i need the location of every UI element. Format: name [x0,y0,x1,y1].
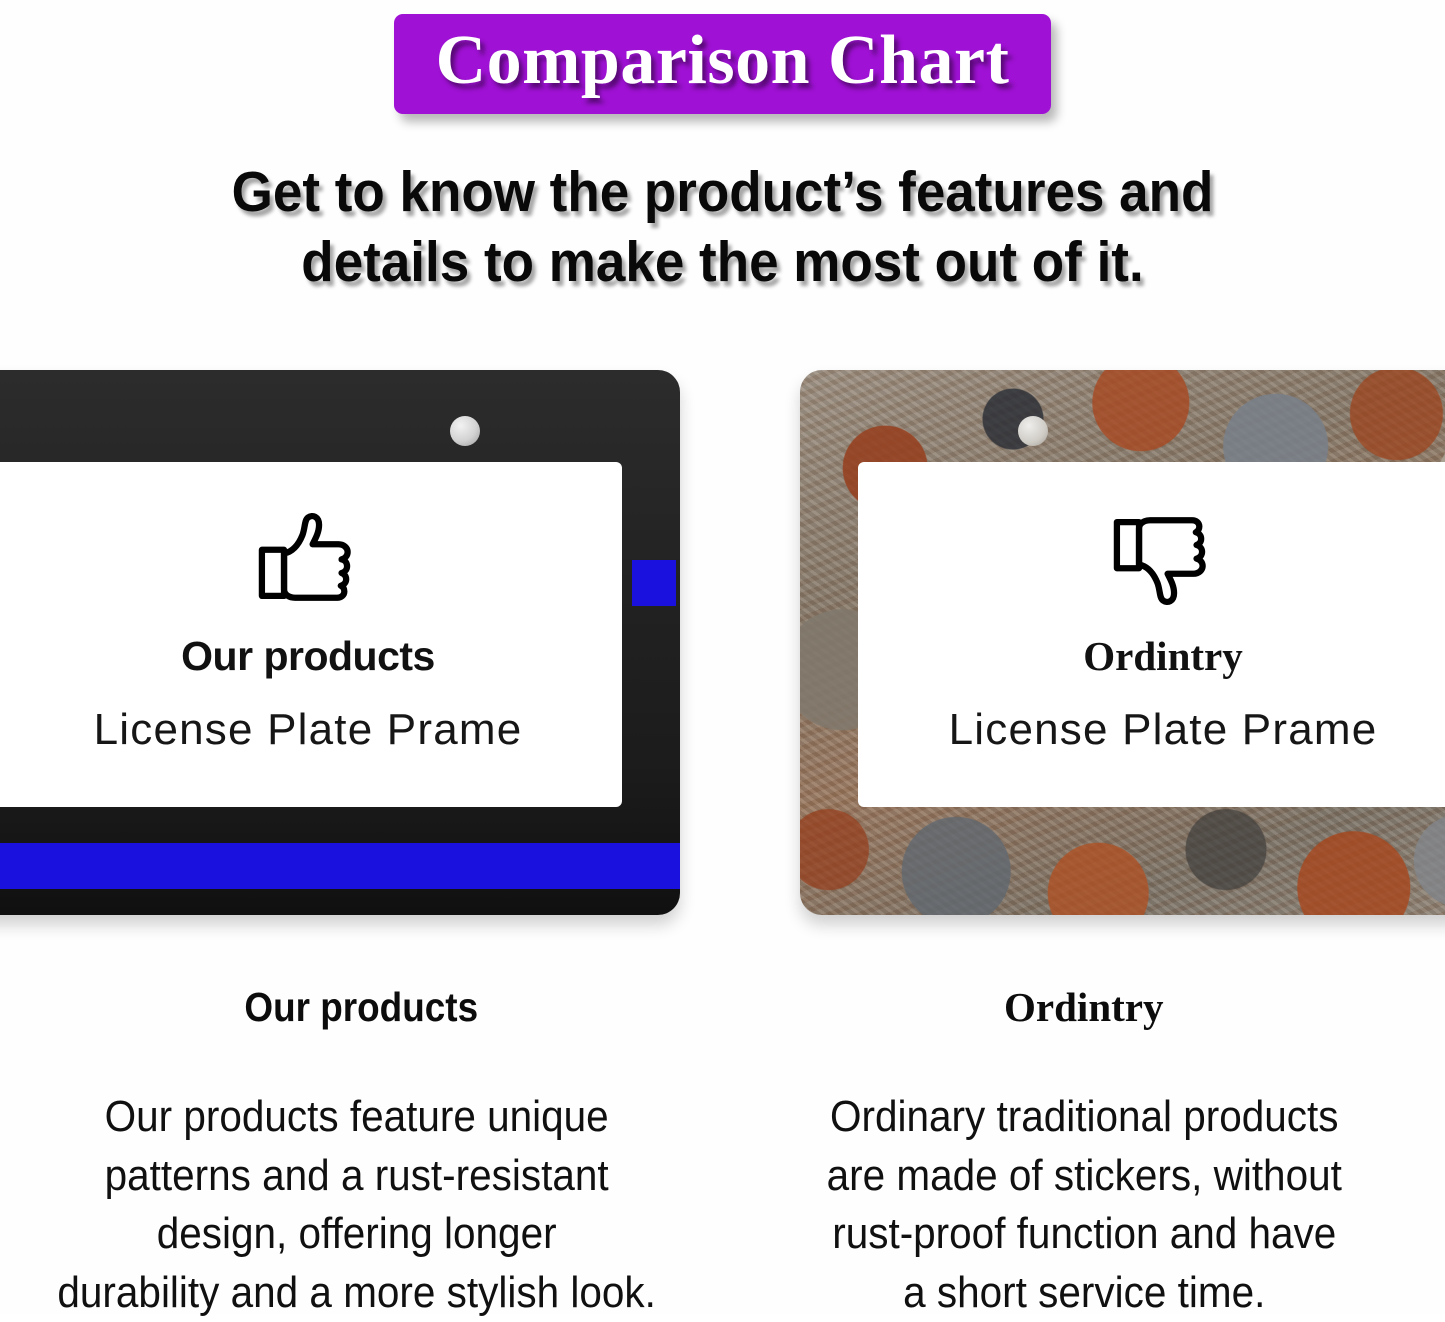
blue-accent-side [632,560,676,606]
mounting-hole-icon [1018,416,1048,446]
blue-accent-bottom [0,843,680,889]
our-product-plate-subtitle: License Plate Prame [0,705,622,755]
our-product-plate-content: Our products License Plate Prame [0,500,622,755]
thumbs-down-icon [1104,500,1222,618]
our-product-description: Our products feature unique patterns and… [45,1088,677,1322]
product-frames-row: Our products License Plate Prame Ordintr… [0,362,1445,917]
ordinary-product-plate-content: Ordintry License Plate Prame [858,500,1445,755]
page-subtitle: Get to know the product’s features and d… [125,158,1320,297]
thumbs-up-icon [249,500,367,618]
ordinary-product-plate-subtitle: License Plate Prame [858,705,1445,755]
ordinary-product-heading: Ordintry [741,985,1428,1030]
our-product-plate-name: Our products [0,634,622,679]
ordinary-product-plate-window: Ordintry License Plate Prame [858,462,1445,807]
comparison-description-row: Our products Our products feature unique… [0,985,1445,1315]
our-product-plate-window: Our products License Plate Prame [0,462,622,807]
our-product-column: Our products Our products feature unique… [0,985,723,1315]
ordinary-product-description: Ordinary traditional products are made o… [768,1088,1400,1322]
our-product-frame: Our products License Plate Prame [0,370,680,915]
title-banner-wrapper: Comparison Chart [0,14,1445,114]
ordinary-product-plate-name: Ordintry [858,634,1445,679]
our-product-heading: Our products [52,985,670,1030]
ordinary-product-frame: Ordintry License Plate Prame [800,370,1445,915]
title-banner: Comparison Chart [394,14,1052,114]
mounting-hole-icon [450,416,480,446]
page-title: Comparison Chart [436,22,1010,100]
ordinary-product-column: Ordintry Ordinary traditional products a… [723,985,1445,1315]
